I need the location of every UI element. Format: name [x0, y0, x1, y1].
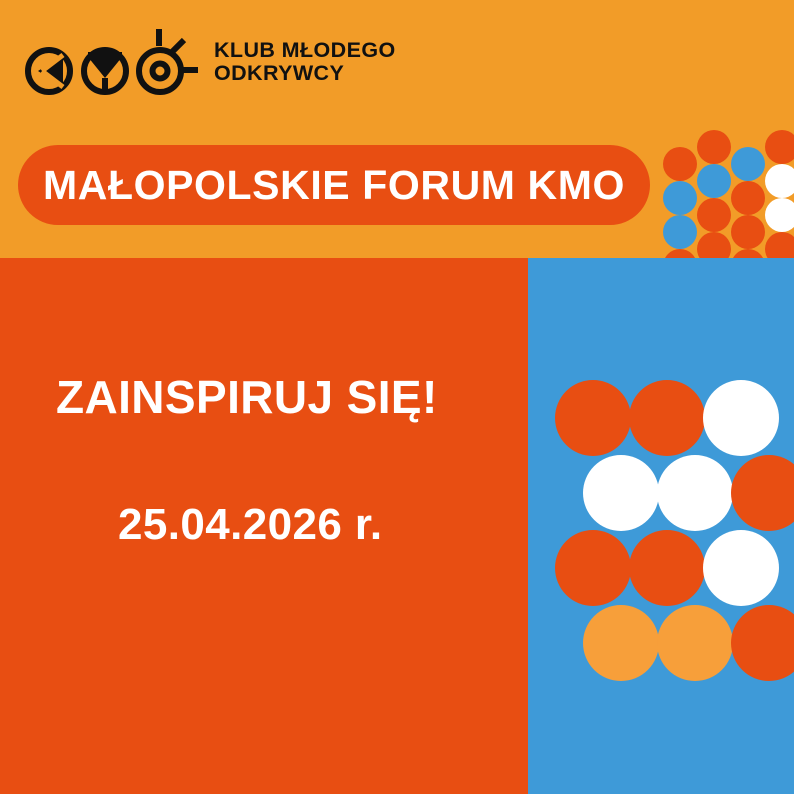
header-dot-8 — [731, 147, 765, 181]
logo-line-1: KLUB MŁODEGO — [214, 39, 396, 62]
blue-dot-10 — [657, 605, 733, 681]
blue-dot-9 — [583, 605, 659, 681]
circle-k-icon — [28, 50, 70, 92]
header-dot-9 — [731, 181, 765, 215]
header-dot-14 — [765, 198, 794, 232]
logo-line-2: ODKRYWCY — [214, 62, 396, 85]
header-dot-0 — [663, 147, 697, 181]
header-dot-15 — [765, 232, 794, 258]
content-panel-blue — [528, 258, 794, 794]
blue-dot-3 — [583, 455, 659, 531]
header-dot-grid — [648, 130, 794, 258]
header-dot-6 — [697, 198, 731, 232]
header-dot-11 — [731, 249, 765, 258]
circle-m-icon — [84, 50, 126, 92]
headline-text: ZAINSPIRUJ SIĘ! — [56, 370, 438, 424]
header-dot-3 — [663, 249, 697, 258]
logo-wordmark: KLUB MŁODEGO ODKRYWCY — [214, 37, 396, 85]
circle-o-burst-icon — [139, 29, 198, 92]
header-dot-10 — [731, 215, 765, 249]
header-dot-2 — [663, 215, 697, 249]
blue-dot-11 — [731, 605, 794, 681]
blue-dot-5 — [731, 455, 794, 531]
poster-canvas: KLUB MŁODEGO ODKRYWCY MAŁOPOLSKIE FORUM … — [0, 0, 794, 794]
blue-dot-0 — [555, 380, 631, 456]
header-dot-1 — [663, 181, 697, 215]
header-dot-7 — [697, 232, 731, 258]
blue-dot-grid — [528, 258, 794, 794]
header-dot-12 — [765, 130, 794, 164]
header-dot-4 — [697, 130, 731, 164]
kmo-logo: KLUB MŁODEGO ODKRYWCY — [22, 26, 396, 96]
blue-dot-7 — [629, 530, 705, 606]
header-dot-13 — [765, 164, 794, 198]
header-dot-5 — [697, 164, 731, 198]
forum-title-text: MAŁOPOLSKIE FORUM KMO — [43, 162, 625, 209]
blue-dot-1 — [629, 380, 705, 456]
blue-dot-8 — [703, 530, 779, 606]
blue-dot-4 — [657, 455, 733, 531]
logo-marks — [22, 26, 200, 96]
event-date-text: 25.04.2026 r. — [118, 500, 383, 550]
header-band: KLUB MŁODEGO ODKRYWCY MAŁOPOLSKIE FORUM … — [0, 0, 794, 258]
blue-dot-6 — [555, 530, 631, 606]
blue-dot-2 — [703, 380, 779, 456]
forum-title-pill: MAŁOPOLSKIE FORUM KMO — [18, 145, 650, 225]
